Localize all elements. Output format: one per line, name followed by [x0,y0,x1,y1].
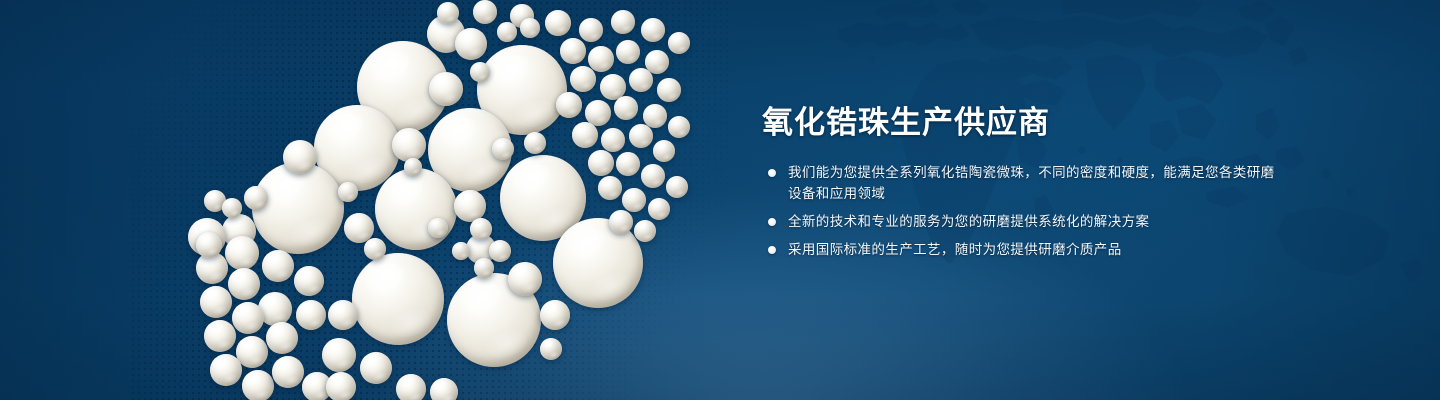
bullet-dot-icon [768,246,776,254]
feature-list: 我们能为您提供全系列氧化锆陶瓷微珠，不同的密度和硬度，能满足您各类研磨设备和应用… [762,162,1282,260]
list-item-label: 全新的技术和专业的服务为您的研磨提供系统化的解决方案 [788,214,1149,229]
list-item: 采用国际标准的生产工艺，随时为您提供研磨介质产品 [762,239,1282,260]
hero-banner: 氧化锆珠生产供应商 我们能为您提供全系列氧化锆陶瓷微珠，不同的密度和硬度，能满足… [0,0,1440,400]
list-item: 我们能为您提供全系列氧化锆陶瓷微珠，不同的密度和硬度，能满足您各类研磨设备和应用… [762,162,1282,204]
list-item-label: 我们能为您提供全系列氧化锆陶瓷微珠，不同的密度和硬度，能满足您各类研磨设备和应用… [788,165,1275,201]
page-title: 氧化锆珠生产供应商 [762,106,1282,140]
bullet-dot-icon [768,218,776,226]
list-item-label: 采用国际标准的生产工艺，随时为您提供研磨介质产品 [788,242,1122,257]
bullet-dot-icon [768,169,776,177]
list-item: 全新的技术和专业的服务为您的研磨提供系统化的解决方案 [762,211,1282,232]
hero-copy: 氧化锆珠生产供应商 我们能为您提供全系列氧化锆陶瓷微珠，不同的密度和硬度，能满足… [762,106,1282,267]
